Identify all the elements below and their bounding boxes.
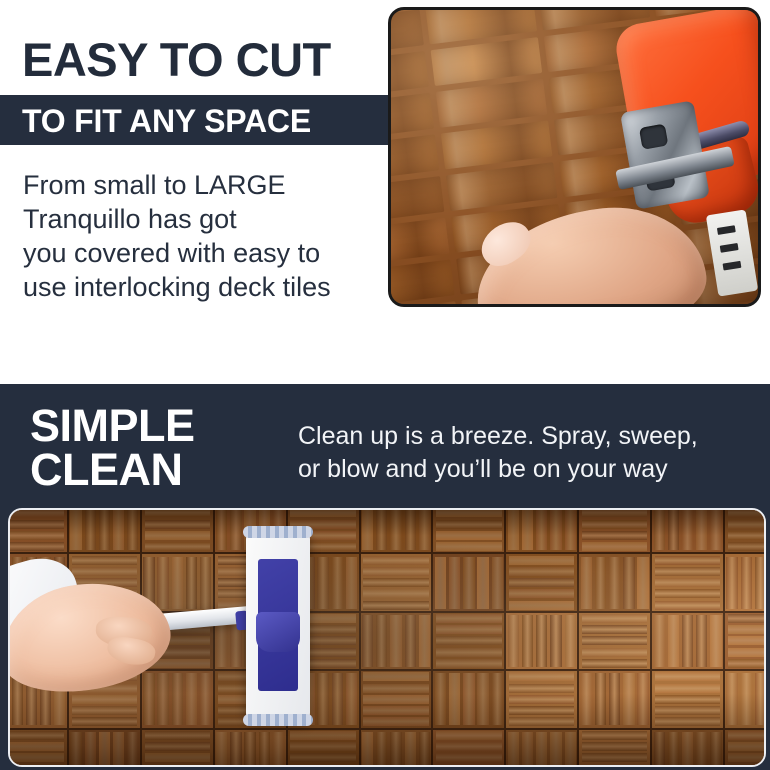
infographic-page: EASY TO CUT TO FIT ANY SPACE From small … — [0, 0, 770, 770]
easy-to-cut-body: From small to LARGE Tranquillo has got y… — [23, 168, 373, 304]
mopping-deck-tiles-photo — [8, 508, 766, 767]
easy-to-cut-section: EASY TO CUT TO FIT ANY SPACE From small … — [0, 0, 770, 384]
mop-fringe-top — [243, 526, 313, 538]
body-line: Tranquillo has got — [23, 202, 373, 236]
subheadline-text: TO FIT ANY SPACE — [22, 104, 311, 138]
body-line: From small to LARGE — [23, 168, 373, 202]
mop-fringe-bottom — [243, 714, 313, 726]
subheadline-banner: TO FIT ANY SPACE — [0, 95, 390, 145]
title-line-2: CLEAN — [30, 448, 195, 492]
title-line-1: SIMPLE — [30, 404, 195, 448]
photo-content — [391, 10, 758, 304]
body-line: you covered with easy to — [23, 236, 373, 270]
tile-slat — [8, 557, 9, 609]
simple-clean-title: SIMPLE CLEAN — [30, 404, 195, 492]
simple-clean-body: Clean up is a breeze. Spray, sweep, or b… — [298, 420, 758, 486]
simple-clean-section: SIMPLE CLEAN Clean up is a breeze. Spray… — [0, 384, 770, 770]
body-line: Clean up is a breeze. Spray, sweep, — [298, 420, 758, 453]
cutting-deck-tile-photo — [388, 7, 761, 307]
page-title: EASY TO CUT — [22, 33, 331, 87]
body-line: use interlocking deck tiles — [23, 270, 373, 304]
mop-swivel-clip — [256, 612, 300, 652]
mop-head — [246, 530, 310, 722]
body-line: or blow and you’ll be on your way — [298, 453, 758, 486]
bracket-hole — [639, 124, 668, 150]
tile-slat — [8, 673, 9, 725]
